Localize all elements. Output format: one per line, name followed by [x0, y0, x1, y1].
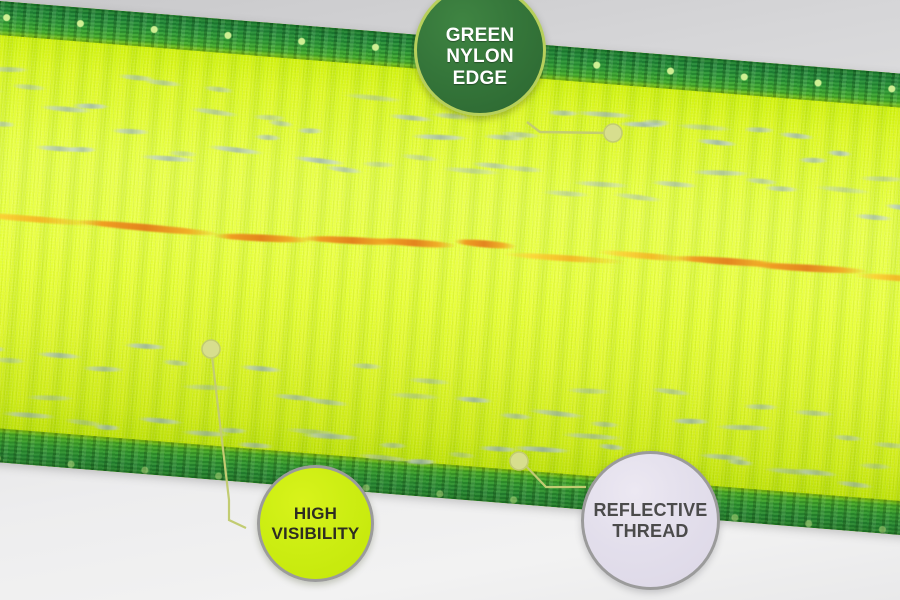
reflective-thread-dash	[297, 127, 324, 133]
reflective-thread-dash	[344, 92, 404, 103]
reflective-thread-dash	[763, 185, 799, 192]
reflective-thread-dash	[207, 144, 265, 156]
reflective-thread-dash	[303, 397, 349, 407]
reflective-thread-dash	[447, 451, 477, 459]
reflective-thread-dash	[744, 177, 780, 186]
reflective-thread-dash	[528, 408, 586, 420]
reflective-thread-dash	[831, 434, 863, 442]
reflective-thread-dash	[361, 161, 396, 168]
reflective-thread-dash	[511, 444, 571, 453]
reflective-thread-dash	[404, 459, 438, 465]
reflective-thread-dash	[0, 86, 5, 94]
reflective-thread-dash	[777, 131, 815, 140]
reflective-thread-dash	[884, 202, 900, 211]
reflective-thread-dash	[597, 443, 625, 451]
reflective-thread-dash	[111, 128, 151, 135]
reflective-thread-dash	[0, 357, 27, 364]
reflective-thread-dash	[203, 85, 235, 94]
reflective-thread-dash	[798, 157, 830, 163]
reflective-thread-dash	[292, 155, 346, 166]
reflective-thread-dash	[650, 387, 691, 397]
reflective-thread-dash	[236, 442, 274, 450]
reflective-thread-dash	[498, 412, 533, 420]
reflective-thread-dash	[387, 392, 442, 400]
reflective-thread-dash	[66, 147, 98, 153]
reflective-thread-dash	[181, 384, 235, 391]
reflective-thread-dash	[589, 421, 620, 428]
product-feature-image: GREEN NYLON EDGE HIGH VISIBILITY REFLECT…	[0, 0, 900, 600]
callout-high-visibility-label: HIGH VISIBILITY	[272, 504, 360, 543]
reflective-thread-dash	[267, 119, 295, 127]
reflective-thread-dash	[835, 479, 875, 489]
reflective-thread-dash	[300, 433, 360, 441]
reflective-thread-dash	[725, 459, 754, 467]
reflective-thread-dash	[11, 83, 47, 91]
reflective-thread-dash	[827, 150, 853, 157]
reflective-thread-dash	[0, 346, 6, 352]
reflective-thread-dash	[388, 113, 434, 123]
reflective-thread-dash	[0, 66, 30, 72]
reflective-thread-dash	[505, 165, 544, 173]
reflective-thread-dash	[561, 432, 623, 441]
reflective-thread-dash	[399, 153, 440, 162]
callout-reflective-thread[interactable]: REFLECTIVE THREAD	[581, 451, 720, 590]
reflective-thread-dash	[93, 424, 121, 431]
reflective-thread-dash	[411, 134, 469, 141]
reflective-thread-dash	[853, 213, 893, 222]
reflective-thread-dash	[143, 78, 184, 87]
reflective-thread-dash	[814, 184, 872, 195]
reflective-thread-dash	[696, 138, 738, 147]
reflective-thread-dash	[137, 416, 185, 425]
reflective-thread-dash	[675, 123, 733, 132]
reflective-thread-dash	[25, 395, 75, 401]
reflective-thread-dash	[189, 106, 239, 118]
reflective-thread-dash	[743, 126, 776, 132]
reflective-thread-dash	[453, 396, 493, 404]
reflective-thread-dash	[542, 189, 590, 197]
reflective-thread-dash	[407, 377, 453, 386]
reflective-thread-dash	[355, 452, 410, 463]
reflective-thread-dash	[254, 134, 282, 141]
reflective-thread-dash	[324, 164, 364, 174]
reflective-thread-dash	[124, 343, 167, 351]
reflective-thread-dash	[574, 110, 634, 119]
callout-green-nylon-edge-label: GREEN NYLON EDGE	[446, 11, 515, 90]
reflective-thread-dash	[565, 387, 612, 394]
reflective-thread-dash	[691, 169, 751, 176]
reflective-thread-dash	[743, 403, 779, 409]
reflective-thread-dash	[0, 410, 57, 419]
reflective-thread-dash	[715, 424, 773, 431]
reflective-thread-dash	[239, 364, 283, 373]
reflective-thread-dash	[82, 365, 126, 372]
reflective-thread-dash	[161, 359, 191, 367]
reflective-thread-dash	[613, 192, 665, 203]
reflective-thread-dash	[650, 180, 698, 189]
reflective-thread-dash	[792, 409, 834, 417]
reflective-thread-dash	[350, 363, 383, 370]
reflective-thread-dash	[0, 120, 16, 127]
reflective-thread-dash	[670, 418, 711, 424]
reflective-thread-dash	[871, 442, 900, 450]
callout-reflective-thread-label: REFLECTIVE THREAD	[593, 500, 707, 541]
reflective-thread-dash	[36, 351, 83, 359]
reflective-thread-dash	[377, 442, 407, 448]
reflective-thread-dash	[572, 180, 630, 189]
reflective-thread-dash	[859, 176, 900, 183]
callout-high-visibility[interactable]: HIGH VISIBILITY	[257, 465, 374, 582]
reflective-thread-dash	[857, 462, 892, 469]
